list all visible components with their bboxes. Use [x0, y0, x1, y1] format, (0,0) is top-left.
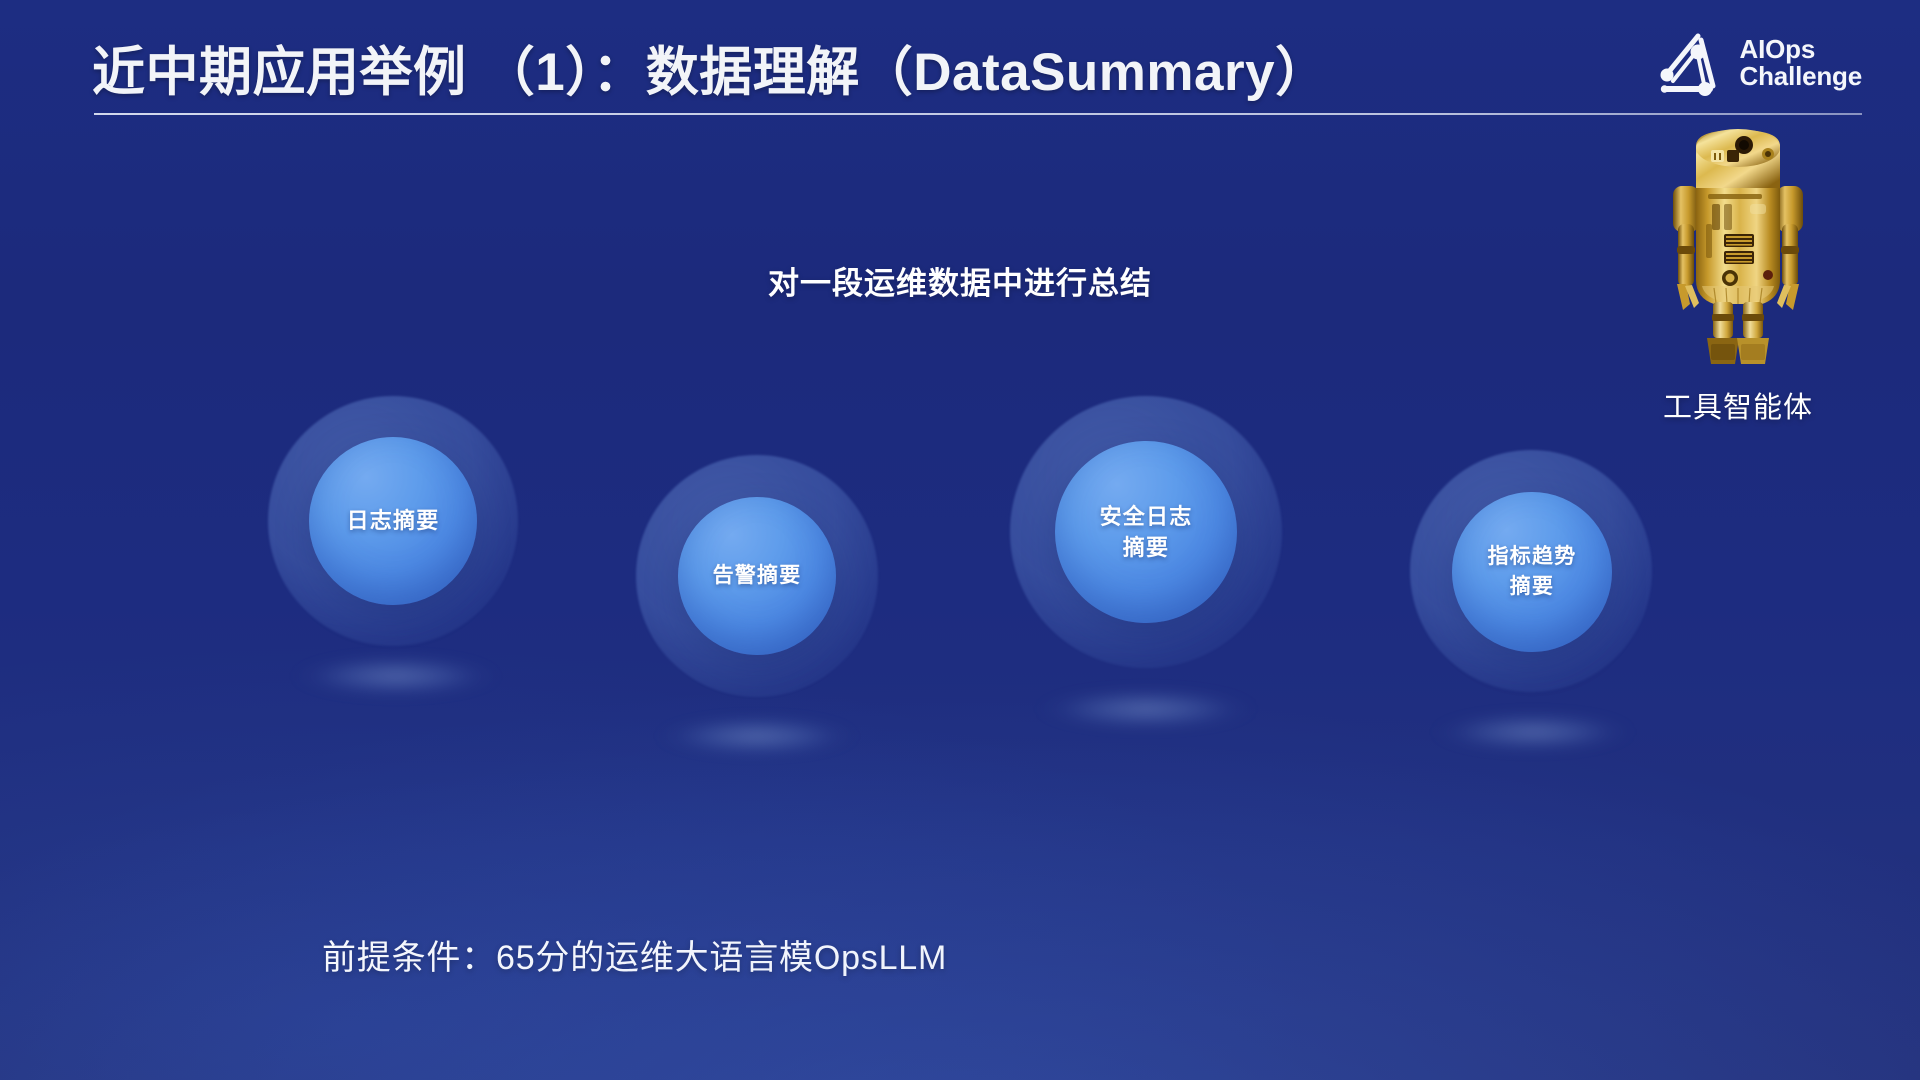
bubble-reflection	[654, 716, 860, 756]
robot-legs	[1707, 302, 1769, 364]
bubble-reflection	[290, 655, 502, 697]
robot-right-arm	[1777, 186, 1803, 310]
bubble-core: 安全日志 摘要	[1055, 441, 1237, 623]
golden-droid-robot-icon	[1658, 128, 1818, 368]
bubble-reflection	[1034, 688, 1258, 730]
bubble-label: 告警摘要	[713, 561, 802, 591]
bubble-security-log-summary[interactable]: 安全日志 摘要	[1010, 396, 1282, 668]
bubble-label: 指标趋势 摘要	[1488, 542, 1577, 602]
tool-agent: 工具智能体	[1658, 128, 1818, 426]
bubble-core: 指标趋势 摘要	[1452, 492, 1612, 652]
agent-label: 工具智能体	[1630, 384, 1846, 426]
bubble-label: 日志摘要	[347, 505, 440, 536]
bubble-alert-summary[interactable]: 告警摘要	[636, 455, 878, 697]
bubble-log-summary[interactable]: 日志摘要	[268, 396, 518, 646]
bubble-core: 日志摘要	[309, 437, 477, 605]
bubble-core: 告警摘要	[678, 497, 836, 655]
bubble-group: 日志摘要 告警摘要 安全日志 摘要 指标趋势 摘要	[0, 0, 1920, 1080]
bubble-reflection	[1430, 712, 1636, 752]
prerequisite-note: 前提条件：65分的运维大语言模OpsLLM	[322, 930, 947, 979]
slide-canvas: 近中期应用举例 （1）：数据理解（DataSummary） AIOps Chal…	[0, 0, 1920, 1080]
bubble-metric-trend-summary[interactable]: 指标趋势 摘要	[1410, 450, 1652, 692]
bubble-label: 安全日志 摘要	[1100, 501, 1193, 563]
robot-left-arm	[1673, 186, 1699, 310]
